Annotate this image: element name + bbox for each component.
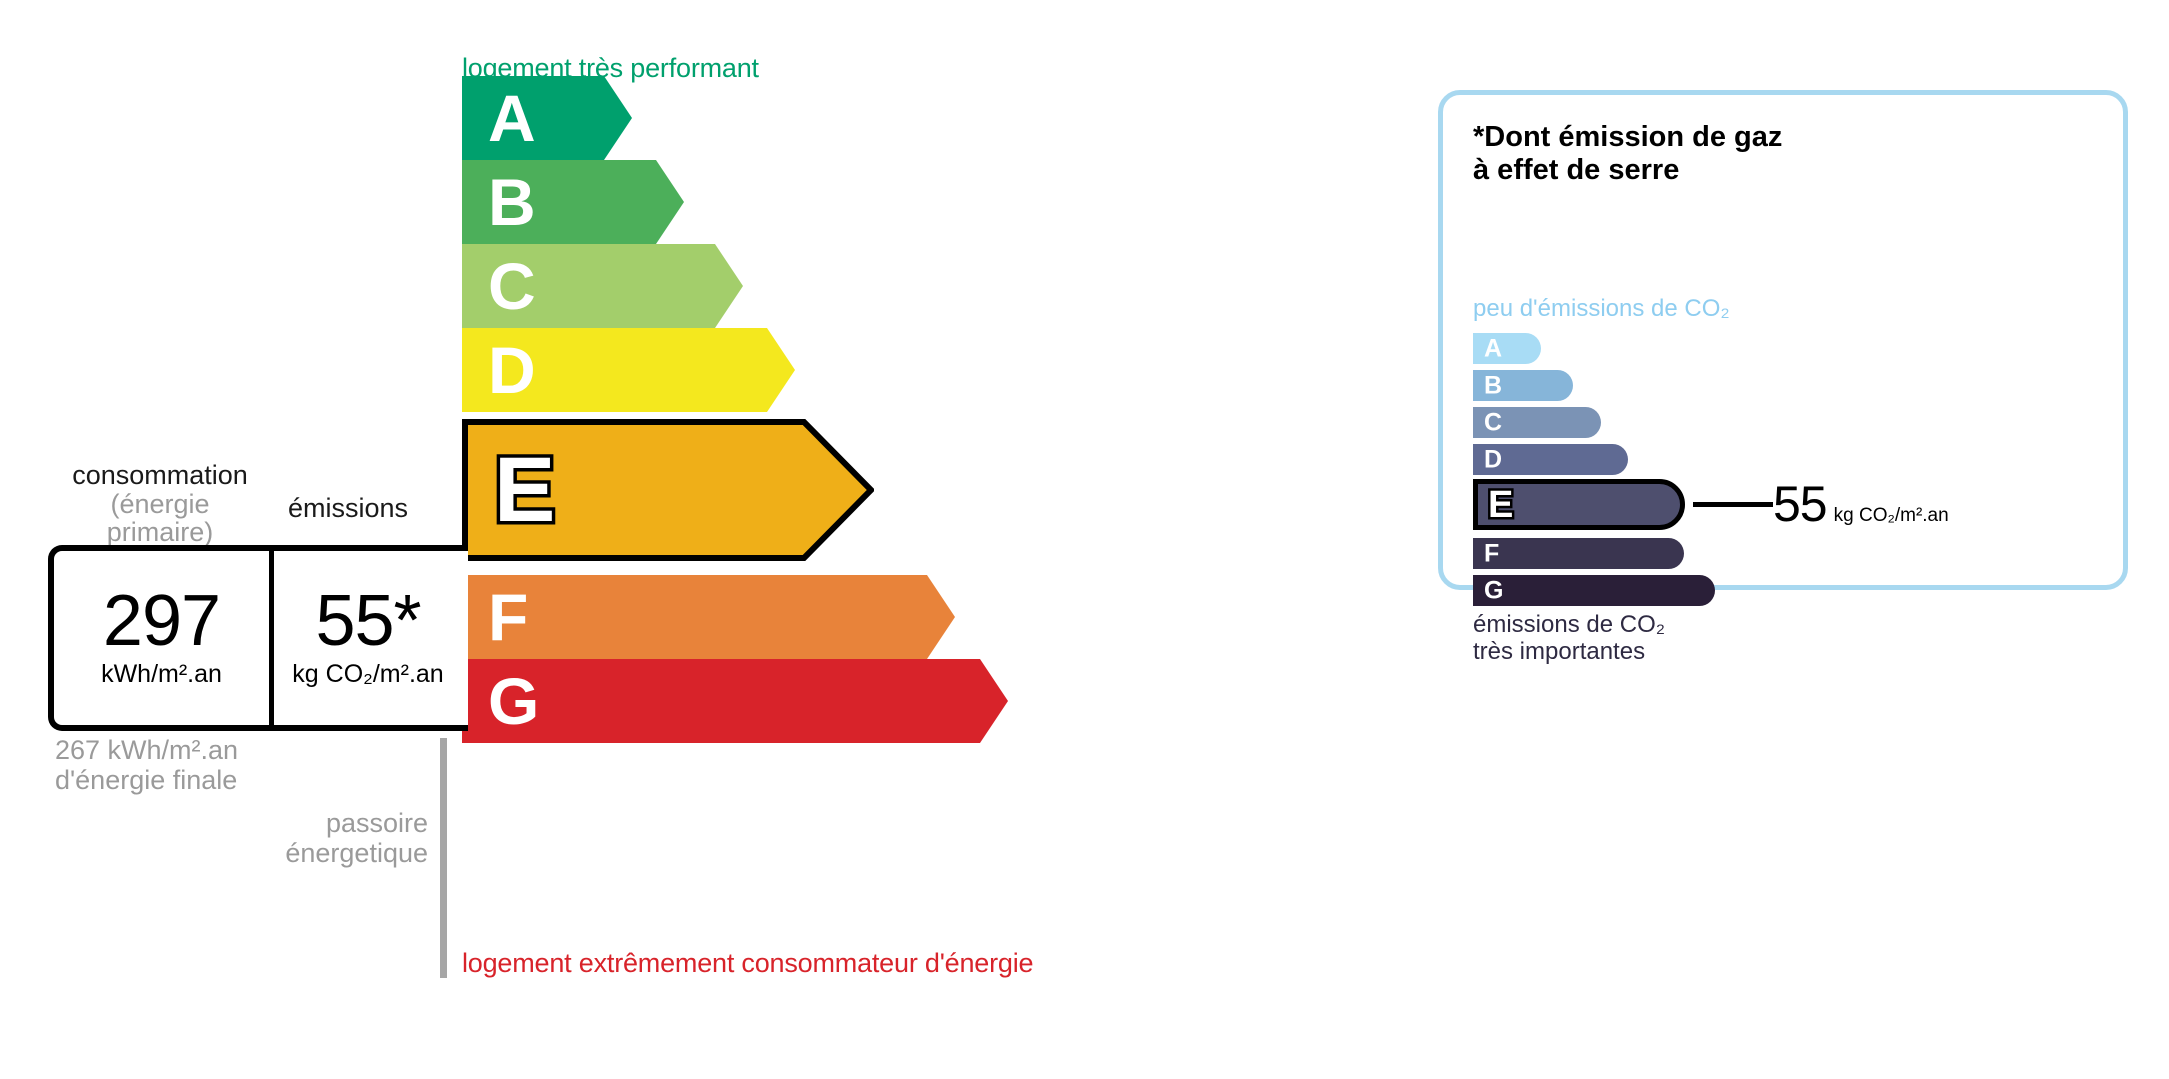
energy-bar-a: A xyxy=(462,76,632,160)
passoire-note: passoire énergetique xyxy=(200,808,428,868)
energy-bar-g: G xyxy=(462,659,1008,743)
energy-performance-chart: logement très performant A B C D E xyxy=(0,0,1400,1079)
consumption-label: consommation xyxy=(55,461,265,490)
final-energy-note-line2: d'énergie finale xyxy=(55,765,238,795)
ges-bar-d-letter: D xyxy=(1484,447,1502,472)
ges-bar-c-letter: C xyxy=(1484,410,1502,435)
consumption-value-box: 297 kWh/m².an 55* kg CO₂/m².an xyxy=(48,545,468,731)
ges-bar-d: D xyxy=(1473,444,1628,475)
ges-bar-b-letter: B xyxy=(1484,373,1502,398)
energy-bar-f: F xyxy=(462,575,955,659)
ges-bar-f: F xyxy=(1473,538,1684,569)
consumption-value-unit: kWh/m².an xyxy=(101,660,222,689)
energy-bar-g-shape xyxy=(462,659,1008,743)
energy-bar-d: D xyxy=(462,328,795,412)
final-energy-note-line1: 267 kWh/m².an xyxy=(55,735,238,765)
energy-bar-d-letter: D xyxy=(488,337,536,403)
passoire-note-line1: passoire xyxy=(200,808,428,838)
energy-bar-a-letter: A xyxy=(488,85,536,151)
ges-top-caption: peu d'émissions de CO₂ xyxy=(1473,295,1730,323)
ges-bar-e-selected: E xyxy=(1473,479,1685,530)
final-energy-note: 267 kWh/m².an d'énergie finale xyxy=(55,735,238,795)
ges-bar-b: B xyxy=(1473,370,1573,401)
consumption-label-group: consommation (énergie primaire) xyxy=(55,461,265,547)
ges-bar-g-letter: G xyxy=(1484,578,1503,603)
ges-callout-value: 55 xyxy=(1773,479,1827,529)
ges-bar-f-letter: F xyxy=(1484,541,1499,566)
energy-bar-b-letter: B xyxy=(488,169,536,235)
ges-callout-unit: kg CO₂/m².an xyxy=(1834,505,1949,527)
passoire-note-line2: énergetique xyxy=(200,838,428,868)
ges-bar-a: A xyxy=(1473,333,1541,364)
emissions-label: émissions xyxy=(288,493,408,524)
ges-bottom-caption-line1: émissions de CO₂ xyxy=(1473,611,1665,638)
ges-bar-a-letter: A xyxy=(1484,336,1502,361)
ges-bar-g: G xyxy=(1473,575,1715,606)
energy-bar-f-letter: F xyxy=(488,584,528,650)
ges-callout-leader-line xyxy=(1693,502,1773,507)
emission-value: 55* xyxy=(315,587,420,655)
ges-callout: 55 kg CO₂/m².an xyxy=(1773,479,1949,529)
energy-bar-b: B xyxy=(462,160,684,244)
ges-panel-title-line2: à effet de serre xyxy=(1473,154,1782,187)
energy-bar-g-letter: G xyxy=(488,668,539,734)
consumption-value-cell: 297 kWh/m².an xyxy=(54,551,269,725)
ges-bar-e-letter: E xyxy=(1488,486,1513,524)
ges-bottom-caption-line2: très importantes xyxy=(1473,638,1665,665)
emission-value-unit: kg CO₂/m².an xyxy=(292,660,443,689)
energy-bar-c: C xyxy=(462,244,743,328)
consumption-value: 297 xyxy=(103,587,220,655)
energy-bar-f-shape xyxy=(462,575,955,659)
energy-bar-e-selected: E xyxy=(462,419,874,561)
emission-value-cell: 55* kg CO₂/m².an xyxy=(269,551,462,725)
ges-bottom-caption: émissions de CO₂ très importantes xyxy=(1473,611,1665,666)
energy-bar-e-letter: E xyxy=(494,444,555,536)
energy-bottom-caption: logement extrêmement consommateur d'éner… xyxy=(462,948,1033,979)
ges-panel-title: *Dont émission de gaz à effet de serre xyxy=(1473,121,1782,187)
ges-bar-c: C xyxy=(1473,407,1601,438)
greenhouse-gas-panel: *Dont émission de gaz à effet de serre p… xyxy=(1438,90,2128,590)
primary-energy-label: (énergie primaire) xyxy=(55,490,265,547)
energy-bar-c-letter: C xyxy=(488,253,536,319)
passoire-indicator-bar xyxy=(440,738,447,978)
ges-panel-title-line1: *Dont émission de gaz xyxy=(1473,121,1782,154)
